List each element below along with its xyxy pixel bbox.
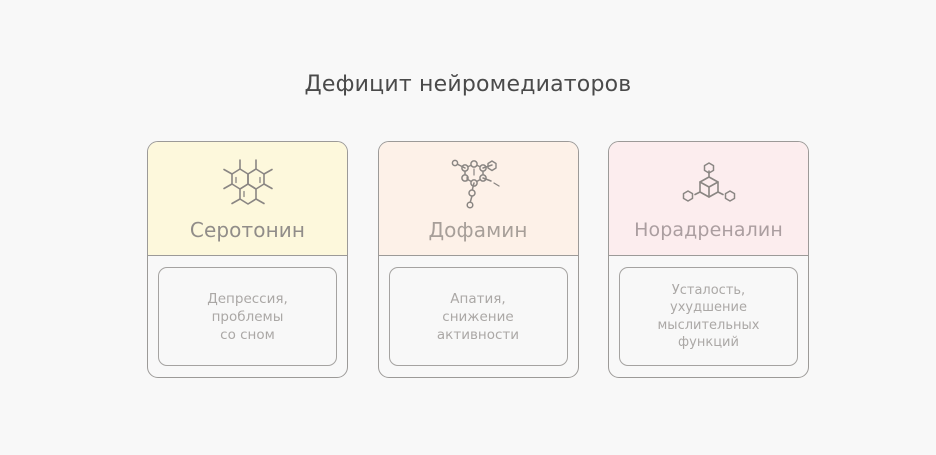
card-dopamine-label: Дофамин bbox=[428, 217, 527, 243]
card-serotonin-symptom-box: Депрессия, проблемы со сном bbox=[158, 267, 337, 366]
card-dopamine-body: Апатия, снижение активности bbox=[379, 256, 578, 377]
card-dopamine-symptom-box: Апатия, снижение активности bbox=[389, 267, 568, 366]
card-noradrenaline-label: Норадреналин bbox=[634, 217, 783, 243]
card-serotonin-header: Серотонин bbox=[148, 142, 347, 256]
card-noradrenaline[interactable]: Норадреналин Усталость, ухудшение мыслит… bbox=[608, 141, 809, 378]
card-noradrenaline-symptom-text: Усталость, ухудшение мыслительных функци… bbox=[652, 282, 766, 352]
card-dopamine-symptom-text: Апатия, снижение активности bbox=[431, 290, 525, 344]
neurotransmitter-card-list: Серотонин Депрессия, проблемы со сном bbox=[147, 141, 809, 378]
card-dopamine[interactable]: Дофамин Апатия, снижение активности bbox=[378, 141, 579, 378]
card-noradrenaline-header: Норадреналин bbox=[609, 142, 808, 256]
card-serotonin-symptom-text: Депрессия, проблемы со сном bbox=[201, 290, 294, 344]
card-dopamine-header: Дофамин bbox=[379, 142, 578, 256]
noradrenaline-molecule-icon bbox=[678, 155, 740, 213]
dopamine-molecule-icon bbox=[448, 155, 508, 213]
card-serotonin-label: Серотонин bbox=[190, 217, 305, 243]
serotonin-molecule-icon bbox=[218, 155, 278, 213]
card-serotonin-body: Депрессия, проблемы со сном bbox=[148, 256, 347, 377]
card-serotonin[interactable]: Серотонин Депрессия, проблемы со сном bbox=[147, 141, 348, 378]
page-title: Дефицит нейромедиаторов bbox=[0, 72, 936, 97]
card-noradrenaline-symptom-box: Усталость, ухудшение мыслительных функци… bbox=[619, 267, 798, 366]
card-noradrenaline-body: Усталость, ухудшение мыслительных функци… bbox=[609, 256, 808, 377]
